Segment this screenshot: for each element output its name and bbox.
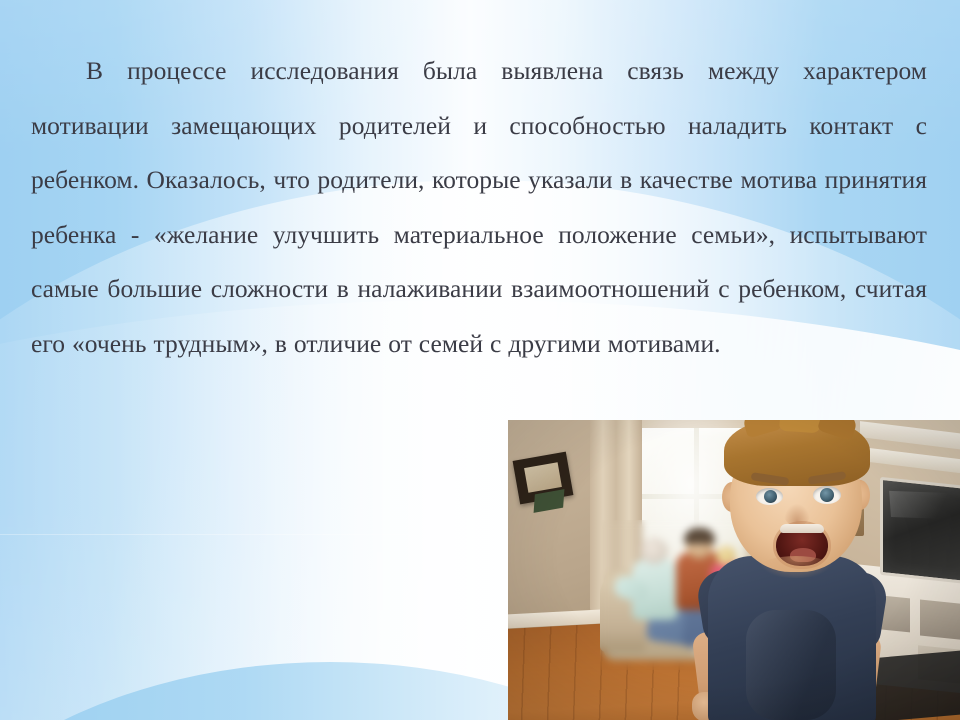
slide-photo-shouting-boy (508, 420, 960, 720)
slide-body-text: В процессе исследования была выявлена св… (31, 44, 927, 371)
decorative-wave-seam (0, 534, 520, 535)
photo-vignette (508, 420, 960, 720)
presentation-slide: В процессе исследования была выявлена св… (0, 0, 960, 720)
